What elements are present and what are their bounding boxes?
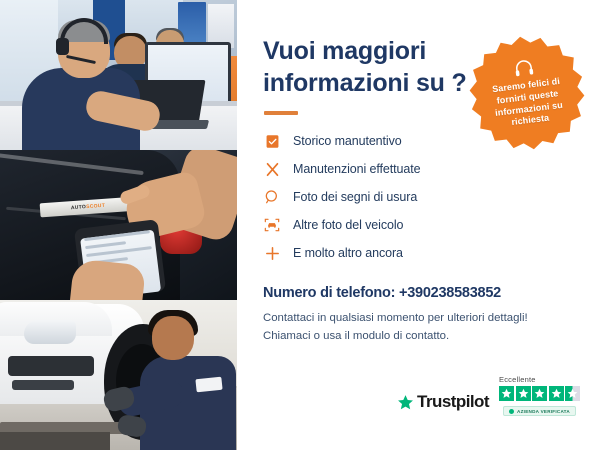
headset-earcup-icon [56, 38, 69, 55]
feature-label: Altre foto del veicolo [293, 218, 403, 232]
uniform-logo [195, 377, 222, 393]
crossed-tools-icon [263, 160, 281, 178]
promo-banner: AUTOSCOUT [0, 0, 600, 450]
contact-description: Contattaci in qualsiasi momento per ulte… [263, 310, 578, 345]
rating-label: Eccellente [499, 375, 536, 384]
magnifier-icon [263, 188, 281, 206]
vehicle-lift-base [0, 432, 110, 450]
phone-screen-line [85, 241, 126, 249]
feature-label: Foto dei segni di usura [293, 190, 417, 204]
trustpilot-widget[interactable]: Trustpilot Eccellente [397, 375, 580, 416]
trustpilot-name: Trustpilot [417, 392, 489, 412]
title-divider [264, 111, 298, 115]
call-center-agents-photo [0, 0, 237, 150]
feature-label: Storico manutentivo [293, 134, 402, 148]
car-headlight [24, 320, 76, 344]
paint-thickness-gauge-photo: AUTOSCOUT [0, 150, 237, 300]
list-item: Foto dei segni di usura [263, 183, 578, 211]
content-panel: Vuoi maggiori informazioni su ? Storico … [237, 0, 600, 450]
car-frame-icon [263, 216, 281, 234]
headset-icon [512, 58, 536, 79]
photo-column: AUTOSCOUT [0, 0, 237, 450]
status-badge: Saremo felici di fornirti queste informa… [461, 27, 593, 159]
verified-label: AZIENDA VERIFICATA [517, 409, 570, 414]
mechanic-wheel-inspection-photo [0, 300, 237, 450]
star-rating [499, 386, 580, 401]
check-circle-icon [509, 409, 514, 414]
trustpilot-star-icon [397, 394, 414, 411]
phone-screen-line [84, 230, 150, 241]
page-title: Vuoi maggiori informazioni su ? [263, 36, 478, 99]
star-half [565, 386, 580, 401]
list-item: E molto altro ancora [263, 239, 578, 267]
badge-content: Saremo felici di fornirti queste informa… [464, 52, 589, 134]
checkbox-checked-icon [263, 132, 281, 150]
car-lower-grille [12, 380, 74, 390]
star-filled [499, 386, 514, 401]
car-frame-icon-row: Altre foto del veicolo [263, 211, 578, 239]
star-filled [516, 386, 531, 401]
list-item: Manutenzioni effettuate [263, 155, 578, 183]
feature-label: E molto altro ancora [293, 246, 403, 260]
plus-icon [263, 244, 281, 262]
strip-logo-text: AUTOSCOUT [71, 203, 106, 211]
trustpilot-brand: Trustpilot [397, 392, 489, 412]
feature-label: Manutenzioni effettuate [293, 162, 420, 176]
verified-company-badge: AZIENDA VERIFICATA [503, 406, 576, 416]
star-filled [549, 386, 564, 401]
contact-line-two: Chiamaci o usa il modulo di contatto. [263, 328, 578, 346]
mechanic-head [152, 316, 194, 360]
phone-number[interactable]: Numero di telefono: +390238583852 [263, 285, 578, 301]
car-grille [8, 356, 94, 376]
star-filled [532, 386, 547, 401]
contact-line-one: Contattaci in qualsiasi momento per ulte… [263, 310, 578, 328]
trustpilot-rating: Eccellente [499, 375, 580, 416]
